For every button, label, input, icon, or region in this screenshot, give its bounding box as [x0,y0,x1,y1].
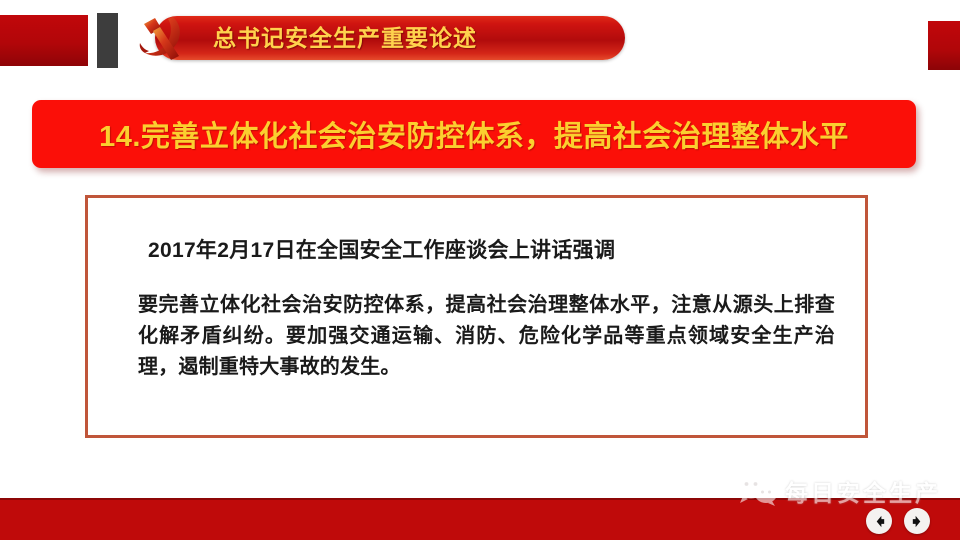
arrow-right-icon [910,514,925,529]
party-emblem-hammer-sickle-icon [133,12,191,66]
header-banner-title: 总书记安全生产重要论述 [213,16,611,60]
footer-band [0,498,960,540]
header-banner: 总书记安全生产重要论述 [155,16,625,60]
prev-slide-button[interactable] [866,508,892,534]
page-title: 14.完善立体化社会治安防控体系，提高社会治理整体水平 [99,113,849,155]
slide-navigation [866,508,930,534]
decor-red-block-right [928,21,960,70]
slide-canvas: 总书记安全生产重要论述 14.完善立体化社会治安防控体系，提高社会治理整体水平 [0,0,960,540]
arrow-left-icon [872,514,887,529]
speech-date-line: 2017年2月17日在全国安全工作座谈会上讲话强调 [148,234,615,264]
slide-title-bar: 14.完善立体化社会治安防控体系，提高社会治理整体水平 [32,100,916,168]
next-slide-button[interactable] [904,508,930,534]
quote-content-box: 2017年2月17日在全国安全工作座谈会上讲话强调 要完善立体化社会治安防控体系… [85,195,868,438]
speech-body-text: 要完善立体化社会治安防控体系，提高社会治理整体水平，注意从源头上排查化解矛盾纠纷… [138,290,835,383]
decor-gray-block [97,13,118,68]
decor-red-block-left [0,15,88,66]
